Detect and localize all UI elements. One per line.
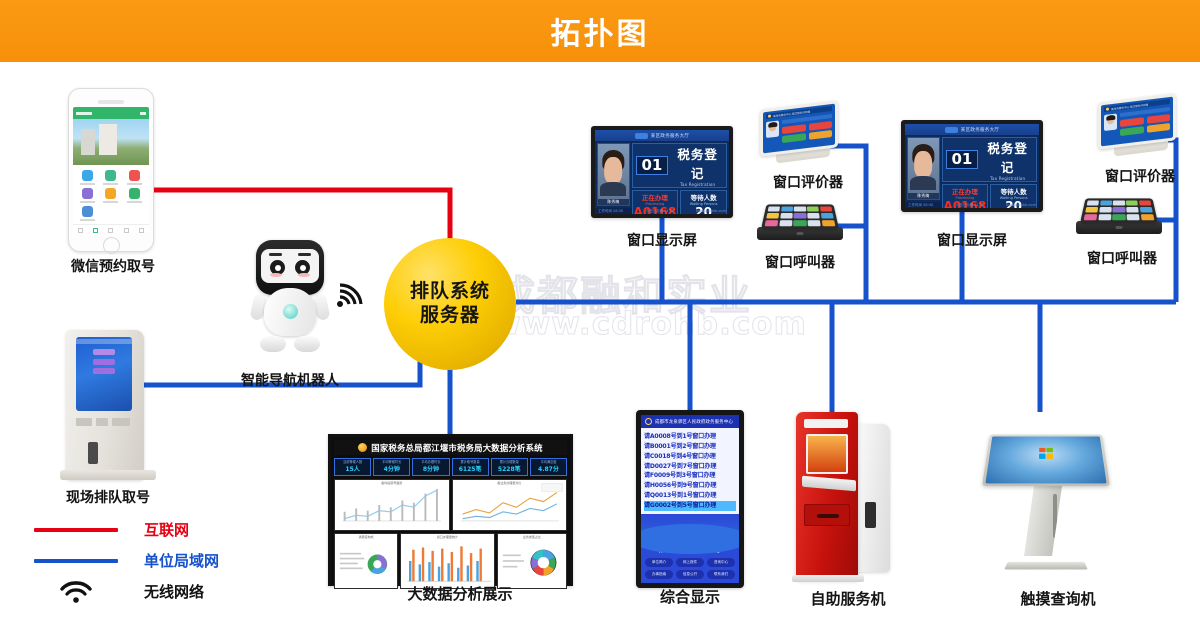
footer-right: www.cdrohb.com bbox=[1006, 203, 1036, 207]
caption-window-display-right: 窗口显示屏 bbox=[892, 230, 1052, 250]
inquiry-screen[interactable] bbox=[982, 434, 1110, 486]
caller-key[interactable] bbox=[768, 206, 781, 211]
legend-label-lan: 单位局域网 bbox=[122, 550, 219, 571]
line-chart-1 bbox=[335, 480, 449, 530]
caller-key[interactable] bbox=[1099, 207, 1112, 213]
hall-logo-icon bbox=[635, 133, 648, 139]
kiosk-body bbox=[60, 330, 156, 480]
queue-item: 请C0018号到4号窗口办理 bbox=[644, 452, 736, 462]
kiosk-screen bbox=[76, 337, 132, 411]
kiosk-side-panel bbox=[856, 424, 890, 572]
kiosk-base bbox=[60, 470, 156, 480]
kiosk-front-body bbox=[796, 412, 858, 580]
node-onsite-kiosk[interactable] bbox=[60, 330, 156, 480]
display-info: 01 税务登记 Tax Registration 正在办理 Processing… bbox=[632, 143, 728, 206]
gov-emblem-icon bbox=[645, 418, 652, 425]
service-name-cn: 税务登记 bbox=[672, 144, 723, 182]
comprehensive-title: 成都市龙泉驿区人民政府政务服务中心 bbox=[655, 419, 733, 425]
kiosk-touch-screen[interactable] bbox=[806, 434, 848, 474]
kpi-card: 平均办理时长 8分钟 bbox=[412, 458, 449, 476]
kpi-card: 平均等候时长 4分钟 bbox=[373, 458, 410, 476]
caller-key[interactable] bbox=[765, 220, 779, 226]
caller-key[interactable] bbox=[808, 220, 821, 226]
caller-key[interactable] bbox=[781, 206, 793, 211]
donut-chart-1 bbox=[335, 534, 397, 588]
queue-call-list: 请A0008号到1号窗口办理 请B0001号到2号窗口办理 请C0018号到4号… bbox=[641, 428, 739, 514]
node-queue-server[interactable]: 排队系统 服务器 bbox=[384, 238, 516, 370]
dashboard-chart-row-2: 满意度构成 窗口办理量统计 bbox=[334, 533, 567, 589]
processing-label-cn: 正在办理 bbox=[633, 192, 678, 202]
photo-face bbox=[604, 157, 622, 184]
evaluator-tablet: 某政务服务中心·窗口服务评价器 bbox=[760, 100, 838, 157]
legend-swatch-internet bbox=[30, 528, 122, 532]
counter-number: 01 bbox=[946, 150, 979, 169]
robot-chest-light-icon bbox=[283, 304, 298, 319]
touch-inquiry-kiosk bbox=[978, 414, 1120, 582]
windows-logo-icon bbox=[1039, 448, 1053, 459]
status-row: 正在办理 Processing A0168 等待人数 Waiting Perso… bbox=[942, 184, 1038, 212]
footer-button-row-2: 办事指南 信息公开 联系我们 bbox=[645, 570, 735, 579]
caller-key[interactable] bbox=[820, 206, 833, 211]
comprehensive-titlebar: 成都市龙泉驿区人民政府政务服务中心 bbox=[641, 415, 739, 428]
rate-button-unsatisfied[interactable] bbox=[809, 130, 833, 140]
caller-key[interactable] bbox=[1126, 207, 1139, 213]
legend-swatch-lan bbox=[30, 559, 122, 563]
status-row: 正在办理 Processing A0168 等待人数 Waiting Perso… bbox=[632, 190, 728, 218]
staff-photo: 陈秀梅 bbox=[597, 143, 630, 206]
footer-left: 工作时间 08:30 bbox=[908, 203, 933, 208]
caption-navigation-robot: 智能导航机器人 bbox=[210, 370, 370, 390]
chart-panel-line-2: 各业务办理量对比 bbox=[452, 479, 568, 531]
phone-screen bbox=[73, 107, 149, 233]
topology-diagram: 拓扑图 成都融和实业 www.cdrohb.com bbox=[0, 0, 1200, 621]
bar-chart bbox=[401, 534, 494, 588]
caption-evaluator-right: 窗口评价器 bbox=[1080, 166, 1200, 186]
evaluator-screen: 某政务服务中心·窗口服务评价器 bbox=[1101, 97, 1173, 147]
app-icon bbox=[129, 170, 140, 181]
kpi-card: 累计办理数量 5228笔 bbox=[491, 458, 528, 476]
robot-foot-left bbox=[260, 336, 286, 352]
kpi-card: 当前等候人数 15人 bbox=[334, 458, 371, 476]
server-label-line2: 服务器 bbox=[420, 304, 480, 328]
staff-avatar bbox=[766, 120, 779, 138]
legend-item-internet: 互联网 bbox=[30, 514, 219, 545]
app-icon bbox=[82, 170, 93, 181]
kpi-value: 5228笔 bbox=[492, 464, 527, 473]
caller-key[interactable] bbox=[807, 213, 820, 219]
photo-face bbox=[914, 151, 932, 178]
footer-button[interactable]: 单位简介 bbox=[645, 558, 673, 567]
node-self-service-machine[interactable] bbox=[790, 412, 896, 584]
node-bigdata-dashboard[interactable]: 国家税务总局都江堰市税务局大数据分析系统 当前等候人数 15人 平均等候时长 4… bbox=[328, 434, 573, 586]
phone-speaker bbox=[98, 100, 124, 104]
kpi-card: 累计取号数量 6125笔 bbox=[452, 458, 489, 476]
photo-shoulder bbox=[910, 176, 936, 191]
caller-device bbox=[757, 198, 843, 244]
kiosk-card-slots bbox=[76, 418, 132, 432]
caption-onsite-kiosk: 现场排队取号 bbox=[28, 487, 188, 507]
kpi-value: 6125笔 bbox=[453, 464, 488, 473]
caller-key[interactable] bbox=[1100, 200, 1112, 205]
node-window-display-right[interactable]: 某区政务服务大厅 陈秀梅 01 税务登记 Tax Registration bbox=[901, 120, 1043, 212]
app-banner-image bbox=[73, 119, 149, 165]
dashboard-title: 国家税务总局都江堰市税务局大数据分析系统 bbox=[371, 442, 543, 454]
display-header: 某区政务服务大厅 bbox=[595, 130, 729, 141]
caller-key[interactable] bbox=[1141, 214, 1155, 220]
caller-key[interactable] bbox=[1127, 214, 1140, 220]
caller-key[interactable] bbox=[1113, 200, 1125, 205]
legend: 互联网 单位局域网 无线网络 bbox=[30, 514, 219, 607]
counter-row: 01 税务登记 Tax Registration bbox=[632, 143, 728, 188]
caller-device bbox=[1076, 192, 1162, 238]
service-name-cn: 税务登记 bbox=[982, 138, 1033, 176]
caller-key[interactable] bbox=[1087, 200, 1100, 205]
staff-photo: 陈秀梅 bbox=[907, 137, 940, 200]
inquiry-base-plate bbox=[1004, 562, 1088, 570]
caller-key[interactable] bbox=[821, 213, 834, 219]
chart-panel-donut-2: 业务类型占比 bbox=[497, 533, 567, 589]
caller-keys bbox=[765, 206, 836, 226]
caption-touch-inquiry-machine: 触摸查询机 bbox=[988, 588, 1128, 609]
inquiry-screen-wallpaper bbox=[985, 436, 1106, 483]
app-icon bbox=[105, 170, 116, 181]
footer-button-row-1: 单位简介 网上报件 咨询中心 bbox=[645, 558, 735, 567]
evaluator-tablet: 某政务服务中心·窗口服务评价器 bbox=[1098, 93, 1176, 150]
rate-button-basically-satisfied[interactable] bbox=[782, 133, 806, 143]
hall-logo-icon bbox=[945, 127, 958, 133]
footer-button[interactable]: 信息公开 bbox=[676, 570, 704, 579]
donut-chart-2 bbox=[498, 534, 566, 588]
queue-item: 请F0009号到3号窗口办理 bbox=[644, 471, 736, 481]
service-name: 税务登记 Tax Registration bbox=[982, 138, 1033, 181]
app-icon-grid bbox=[73, 165, 149, 224]
node-wechat-phone[interactable] bbox=[68, 88, 154, 252]
robot-head bbox=[256, 240, 324, 295]
service-name: 税务登记 Tax Registration bbox=[672, 144, 723, 187]
processing-cell: 正在办理 Processing A0168 bbox=[632, 190, 679, 218]
footer-left: 工作时间 08:30 bbox=[598, 209, 623, 214]
caller-keypad-panel bbox=[1080, 198, 1158, 223]
display-header: 某区政务服务大厅 bbox=[905, 124, 1039, 135]
ticket-printer-slot bbox=[88, 442, 98, 464]
display-body: 陈秀梅 01 税务登记 Tax Registration 正在办理 Proces… bbox=[595, 141, 729, 208]
queue-item: 请A0008号到1号窗口办理 bbox=[644, 432, 736, 442]
caller-keypad-panel bbox=[761, 204, 839, 229]
caller-key[interactable] bbox=[1113, 207, 1125, 213]
node-caller-right[interactable] bbox=[1076, 192, 1162, 238]
robot-face-screen bbox=[261, 249, 319, 283]
footer-button[interactable]: 办事指南 bbox=[645, 570, 673, 579]
kpi-value: 4.87分 bbox=[531, 464, 566, 473]
legend-item-lan: 单位局域网 bbox=[30, 545, 219, 576]
waiting-label-cn: 等待人数 bbox=[991, 186, 1036, 196]
processing-cell: 正在办理 Processing A0168 bbox=[942, 184, 989, 212]
caller-key[interactable] bbox=[822, 220, 836, 226]
caller-key[interactable] bbox=[1112, 214, 1125, 220]
node-touch-inquiry-machine[interactable] bbox=[978, 414, 1120, 582]
staff-name: 陈秀梅 bbox=[598, 199, 629, 205]
home-button-icon bbox=[103, 237, 120, 254]
display-info: 01 税务登记 Tax Registration 正在办理 Processing… bbox=[942, 137, 1038, 200]
robot-eyebrow-right bbox=[298, 253, 311, 256]
node-evaluator-left[interactable]: 某政务服务中心·窗口服务评价器 bbox=[760, 105, 842, 167]
evaluator-device: 某政务服务中心·窗口服务评价器 bbox=[760, 105, 842, 167]
tax-bureau-logo-icon bbox=[358, 443, 367, 452]
caption-window-display-left: 窗口显示屏 bbox=[582, 230, 742, 250]
caption-self-service-machine: 自助服务机 bbox=[778, 588, 918, 609]
queue-item: 请Q0013号到1号窗口办理 bbox=[644, 491, 736, 501]
processing-label-cn: 正在办理 bbox=[943, 186, 988, 196]
wifi-signal-icon bbox=[336, 282, 368, 316]
kiosk-top-bezel bbox=[804, 419, 848, 428]
kiosk-document-drawer bbox=[804, 504, 850, 526]
caller-key[interactable] bbox=[1084, 214, 1098, 220]
footer-button[interactable]: 网上报件 bbox=[676, 558, 704, 567]
caption-bigdata-dashboard: 大数据分析展示 bbox=[370, 583, 550, 604]
center-logo-icon bbox=[1106, 107, 1109, 110]
display-body: 陈秀梅 01 税务登记 Tax Registration 正在办理 Proces… bbox=[905, 135, 1039, 202]
queue-item: 请B0001号到2号窗口办理 bbox=[644, 442, 736, 452]
robot-blush-left bbox=[270, 273, 282, 277]
caller-key[interactable] bbox=[1139, 200, 1152, 205]
app-titlebar bbox=[73, 107, 149, 119]
wifi-icon bbox=[59, 579, 93, 605]
caller-key[interactable] bbox=[1085, 207, 1098, 213]
caller-key[interactable] bbox=[1140, 207, 1153, 213]
legend-label-internet: 互联网 bbox=[122, 519, 189, 540]
chart-panel-bars: 窗口办理量统计 bbox=[400, 533, 495, 589]
counter-number: 01 bbox=[636, 156, 669, 175]
caption-wechat-phone: 微信预约取号 bbox=[33, 256, 193, 276]
kiosk-keyboard-tray bbox=[802, 476, 856, 492]
staff-avatar bbox=[1104, 113, 1117, 131]
footer-mid: 今日已办理 21 笔 bbox=[956, 203, 984, 208]
self-service-kiosk bbox=[790, 412, 896, 584]
queue-item-highlighted: 请G0002号到5号窗口办理 bbox=[644, 501, 736, 511]
caller-keys bbox=[1084, 200, 1155, 220]
footer-button[interactable]: 联系我们 bbox=[707, 570, 735, 579]
caller-key[interactable] bbox=[794, 213, 806, 219]
legend-swatch-wireless bbox=[30, 579, 122, 605]
chart-panel-line-1: 各时段取号趋势 bbox=[334, 479, 450, 531]
waiting-cell: 等待人数 Waiting Persons 20 bbox=[680, 190, 727, 218]
queue-item: 请H0056号到9号窗口办理 bbox=[644, 481, 736, 491]
dashboard-kpi-row: 当前等候人数 15人 平均等候时长 4分钟 平均办理时长 8分钟 累计取号数量 … bbox=[334, 458, 567, 476]
evaluator-buttons bbox=[1120, 107, 1170, 138]
hall-title: 某区政务服务大厅 bbox=[961, 127, 999, 133]
app-icon bbox=[82, 188, 93, 199]
caller-key[interactable] bbox=[766, 213, 779, 219]
dashboard-chart-row-1: 各时段取号趋势 各业务办理量对比 bbox=[334, 479, 567, 531]
robot-eyebrow-left bbox=[269, 253, 282, 256]
app-icon bbox=[82, 206, 93, 217]
caption-evaluator-left: 窗口评价器 bbox=[748, 172, 868, 192]
node-caller-left[interactable] bbox=[757, 198, 843, 244]
footer-button[interactable]: 咨询中心 bbox=[707, 558, 735, 567]
app-icon bbox=[105, 188, 116, 199]
server-label-line1: 排队系统 bbox=[410, 280, 490, 304]
legend-item-wireless: 无线网络 bbox=[30, 576, 219, 607]
dashboard-title-bar: 国家税务总局都江堰市税务局大数据分析系统 bbox=[334, 440, 567, 455]
kpi-card: 平均满意度 4.87分 bbox=[530, 458, 567, 476]
footer-right: www.cdrohb.com bbox=[696, 209, 726, 213]
service-name-en: Tax Registration bbox=[982, 176, 1033, 181]
chart-panel-donut-1: 满意度构成 bbox=[334, 533, 398, 589]
rate-button-unsatisfied[interactable] bbox=[1147, 123, 1171, 133]
app-icon bbox=[129, 188, 140, 199]
evaluator-buttons bbox=[782, 114, 832, 145]
rate-button-basically-satisfied[interactable] bbox=[1120, 126, 1144, 136]
node-navigation-robot[interactable] bbox=[250, 240, 330, 352]
counter-row: 01 税务登记 Tax Registration bbox=[942, 137, 1038, 182]
node-evaluator-right[interactable]: 某政务服务中心·窗口服务评价器 bbox=[1098, 98, 1180, 160]
caller-key[interactable] bbox=[779, 220, 792, 226]
kpi-value: 15人 bbox=[335, 464, 370, 473]
node-window-display-left[interactable]: 某区政务服务大厅 陈秀梅 01 税务登记 Tax Registration bbox=[591, 126, 733, 218]
caller-key[interactable] bbox=[794, 206, 806, 211]
robot-figure bbox=[250, 240, 330, 352]
node-comprehensive-display[interactable]: 成都市龙泉驿区人民政府政务服务中心 请A0008号到1号窗口办理 请B0001号… bbox=[636, 410, 744, 588]
line-chart-2 bbox=[453, 480, 567, 530]
kpi-value: 8分钟 bbox=[413, 464, 448, 473]
decorative-wave bbox=[641, 514, 739, 540]
caller-key[interactable] bbox=[1126, 200, 1138, 205]
caption-caller-left: 窗口呼叫器 bbox=[740, 252, 860, 272]
hall-title: 某区政务服务大厅 bbox=[651, 133, 689, 139]
app-tabbar bbox=[73, 224, 149, 233]
waiting-label-cn: 等待人数 bbox=[681, 192, 726, 202]
robot-foot-right bbox=[294, 336, 320, 352]
robot-blush-right bbox=[298, 273, 310, 277]
robot-body bbox=[264, 288, 316, 336]
caller-key[interactable] bbox=[807, 206, 819, 211]
caption-caller-right: 窗口呼叫器 bbox=[1062, 248, 1182, 268]
phone-mockup bbox=[68, 88, 154, 252]
evaluator-device: 某政务服务中心·窗口服务评价器 bbox=[1098, 98, 1180, 160]
waiting-cell: 等待人数 Waiting Persons 20 bbox=[990, 184, 1037, 212]
evaluator-screen: 某政务服务中心·窗口服务评价器 bbox=[763, 104, 835, 154]
kpi-value: 4分钟 bbox=[374, 464, 409, 473]
legend-label-wireless: 无线网络 bbox=[122, 581, 204, 602]
staff-name: 陈秀梅 bbox=[908, 193, 939, 199]
caller-key[interactable] bbox=[793, 220, 806, 226]
footer-mid: 今日已办理 21 笔 bbox=[646, 209, 674, 214]
caller-key[interactable] bbox=[1098, 214, 1111, 220]
caller-key[interactable] bbox=[780, 213, 793, 219]
queue-item: 请D0027号到7号窗口办理 bbox=[644, 462, 736, 472]
service-name-en: Tax Registration bbox=[672, 182, 723, 187]
photo-shoulder bbox=[600, 182, 626, 197]
center-logo-icon bbox=[768, 114, 771, 117]
caption-comprehensive-display: 综合显示 bbox=[620, 586, 760, 607]
kiosk-foot bbox=[792, 575, 864, 582]
kiosk-shell bbox=[66, 330, 144, 480]
